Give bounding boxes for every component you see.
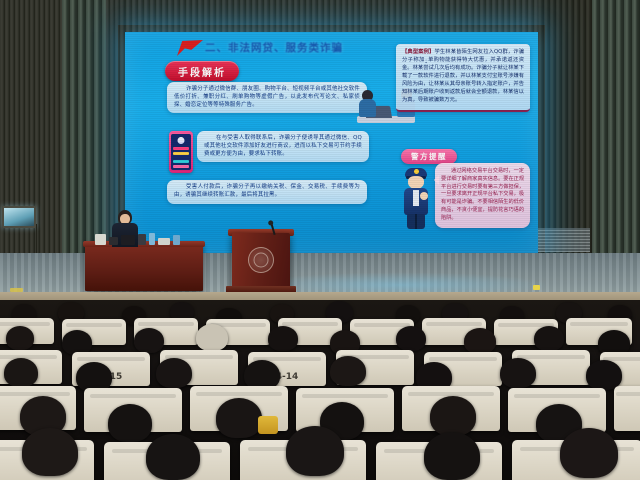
wall-control-panel-light	[2, 206, 36, 228]
case-text: 学生林某皆陌生网友拉入QQ群，诈骗分子称加఼单购物能获得特大优惠，并承诺返还资金…	[402, 49, 524, 103]
audience-head	[396, 326, 426, 351]
audience-head	[330, 356, 366, 386]
yellow-bag	[258, 416, 278, 434]
audience-head	[500, 358, 536, 388]
audience-head	[534, 326, 564, 351]
police-tip-text: 通过网络交易平台交易时，一定要详细了解商家真实信息。要在正规平台进行交易时要有第…	[441, 168, 524, 223]
section-badge-methods: 手段解析	[165, 61, 239, 81]
police-officer-cartoon	[401, 168, 431, 230]
ribbon-flag-icon	[177, 40, 203, 56]
audience-head	[22, 428, 78, 476]
audience-head	[6, 326, 34, 350]
audience-seat[interactable]	[614, 386, 640, 431]
audience-head	[4, 358, 38, 387]
smartphone-illustration	[169, 131, 193, 173]
desk-items	[95, 233, 191, 245]
audience-head	[560, 428, 618, 478]
audience-head	[430, 396, 476, 436]
audience-head	[108, 404, 152, 442]
auditorium-scene: 二、非法网贷、服务类诈骗 手段解析 诈骗分子通过微信群、朋友圈、购物平台、短视频…	[0, 0, 640, 480]
wall-vent-far-right	[538, 228, 590, 252]
info-card-1-text: 诈骗分子通过微信群、朋友圈、购物平台、短视频平台或其他社交软件低价打折、兼职分红…	[174, 86, 360, 109]
audience-seating-area: 4-16 4-15 4-14 5-15 5-14 5-1	[0, 300, 640, 480]
police-tip-badge: 警方提醒	[401, 149, 457, 164]
audience-head	[156, 358, 192, 388]
led-presentation-screen[interactable]: 二、非法网贷、服务类诈骗 手段解析 诈骗分子通过微信群、朋友圈、购物平台、短视频…	[125, 32, 538, 253]
audience-head	[216, 398, 262, 438]
police-tip-bubble: 通过网络交易平台交易时，一定要详细了解商家真实信息。要在正规平台进行交易时要有第…	[435, 163, 530, 228]
case-heading: 【典型案例】	[402, 49, 434, 55]
info-card-2: 在与受害人取得联系后，诈骗分子便诱导其通过微信、QQ或其他社交软件添加好友进行商…	[197, 131, 369, 162]
info-card-2-text: 在与受害人取得联系后，诈骗分子便诱导其通过微信、QQ或其他社交软件添加好友进行商…	[204, 135, 362, 158]
info-card-3-text: 受害人付款后，诈骗分子再以缴纳关税、保金、交易税、手续费等为由，诱骗其继续转账汇…	[174, 184, 360, 200]
audience-head	[268, 326, 298, 351]
info-card-3: 受害人付款后，诈骗分子再以缴纳关税、保金、交易税、手续费等为由，诱骗其继续转账汇…	[167, 180, 367, 204]
podium-emblem-icon	[248, 247, 274, 273]
stage-floor-marker	[533, 285, 540, 290]
presenter-table	[85, 243, 203, 291]
info-card-1: 诈骗分子通过微信群、朋友圈、购物平台、短视频平台或其他社交软件低价打折、兼职分红…	[167, 82, 367, 113]
audience-head	[146, 434, 200, 480]
audience-head	[464, 328, 496, 354]
audience-head	[286, 426, 344, 476]
audience-head	[424, 432, 480, 480]
typical-case-card: 【典型案例】学生林某皆陌生网友拉入QQ群，诈骗分子称加఼单购物能获得特大优惠，并…	[396, 44, 530, 112]
wooden-podium	[232, 233, 290, 293]
audience-head	[134, 328, 164, 353]
audience-head-light-cap	[196, 324, 228, 351]
